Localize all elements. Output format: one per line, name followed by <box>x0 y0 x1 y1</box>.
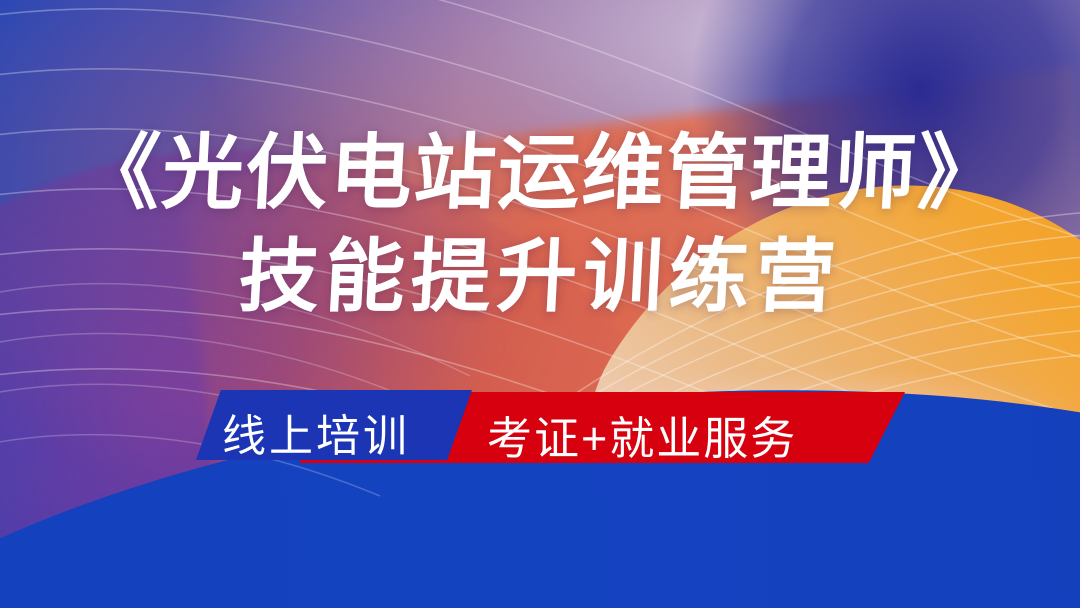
ribbon-banner: 线上培训 考证+就业服务 <box>0 388 1080 472</box>
title-block: 《光伏电站运维管理师》 技能提升训练营 <box>0 132 1080 317</box>
page-title-line-2: 技能提升训练营 <box>0 236 1080 318</box>
promotional-banner: 《光伏电站运维管理师》 技能提升训练营 线上培训 考证+就业服务 <box>0 0 1080 608</box>
ribbon-tag-certification-employment: 考证+就业服务 <box>487 402 797 467</box>
page-title-line-1: 《光伏电站运维管理师》 <box>0 132 1080 216</box>
ribbon-tag-online-training: 线上培训 <box>222 400 410 464</box>
